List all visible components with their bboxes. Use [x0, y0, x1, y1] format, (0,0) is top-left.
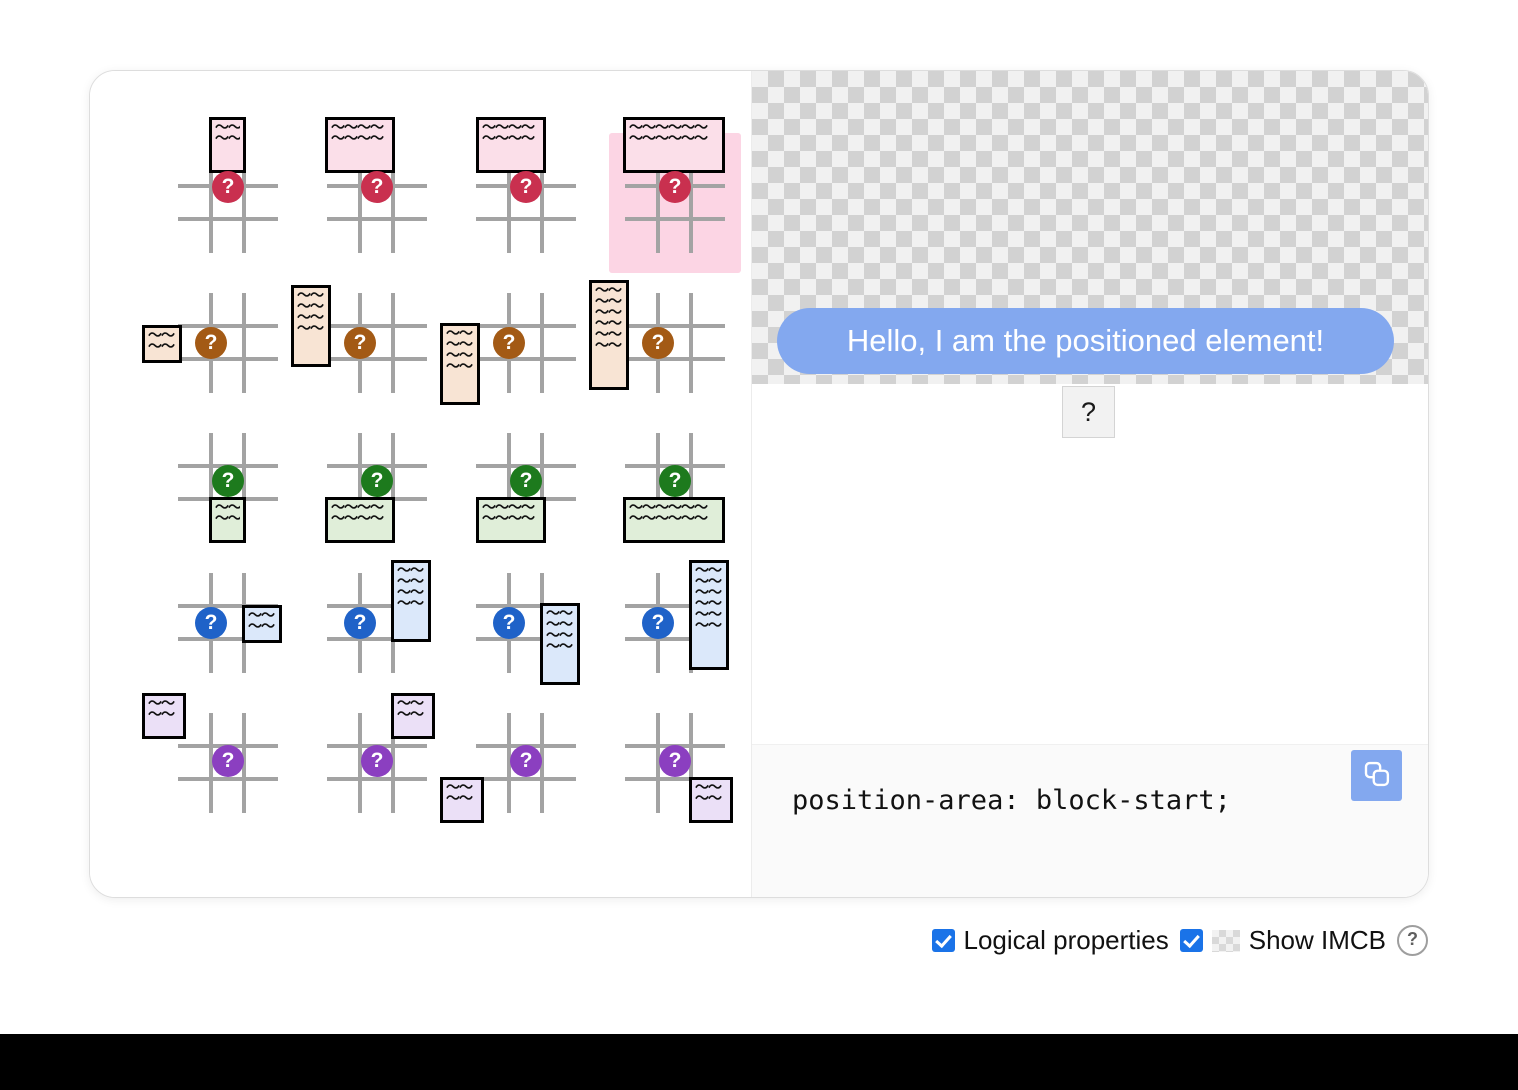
anchor-marker: ? [212, 171, 244, 203]
squiggle-line: 〜〜 [446, 363, 474, 372]
anchor-marker: ? [212, 465, 244, 497]
grid-guides: 〜〜〜〜? [178, 713, 278, 813]
squiggle-line: 〜〜 [695, 589, 723, 598]
anchor-marker: ? [659, 465, 691, 497]
grid-guides: 〜〜〜〜〜〜〜〜? [476, 433, 576, 533]
squiggle-line: 〜〜〜〜〜〜 [629, 135, 719, 144]
grid-line-h2 [327, 217, 427, 221]
grid-guides: 〜〜〜〜? [178, 293, 278, 393]
option-inline-end-span-block-start[interactable]: 〜〜〜〜? [162, 553, 294, 693]
option-block-start-span-inline-start[interactable]: 〜〜〜〜? [162, 133, 294, 273]
grid-guides: 〜〜〜〜? [476, 713, 576, 813]
logical-properties-control[interactable]: Logical properties [932, 925, 1169, 956]
option-end-end[interactable]: 〜〜〜〜? [609, 693, 741, 833]
grid-line-h2 [178, 357, 278, 361]
squiggle-line: 〜〜 [546, 632, 574, 641]
squiggle-line: 〜〜 [297, 292, 325, 301]
anchor-marker: ? [493, 607, 525, 639]
grid-guides: 〜〜〜〜〜〜〜〜〜〜〜〜? [625, 433, 725, 533]
grid-guides: 〜〜〜〜〜〜〜〜? [476, 573, 576, 673]
positioned-box: 〜〜〜〜 [391, 693, 435, 739]
grid-guides: 〜〜〜〜〜〜〜〜? [327, 153, 427, 253]
anchor-element: ? [1062, 386, 1115, 438]
grid-line-h2 [327, 777, 427, 781]
grid-line-v2 [391, 293, 395, 393]
squiggle-line: 〜〜 [397, 700, 429, 709]
grid-guides: 〜〜〜〜〜〜〜〜? [327, 293, 427, 393]
copy-button[interactable] [1351, 750, 1402, 801]
show-imcb-control[interactable]: Show IMCB [1180, 925, 1386, 956]
positioned-box: 〜〜〜〜〜〜〜〜 [325, 117, 395, 173]
positioned-box: 〜〜〜〜〜〜〜〜〜〜〜〜 [623, 497, 725, 543]
squiggle-line: 〜〜 [148, 700, 180, 709]
grid-line-h2 [625, 217, 725, 221]
squiggle-line: 〜〜 [695, 578, 723, 587]
positioned-box: 〜〜〜〜〜〜〜〜 [325, 497, 395, 543]
squiggle-line: 〜〜 [215, 515, 240, 524]
squiggle-line: 〜〜〜〜〜〜 [629, 504, 719, 513]
grid-guides: 〜〜〜〜〜〜〜〜〜〜〜〜? [625, 153, 725, 253]
anchor-marker: ? [642, 327, 674, 359]
squiggle-line: 〜〜 [446, 341, 474, 350]
option-inline-end[interactable]: 〜〜〜〜〜〜〜〜〜〜〜〜? [609, 553, 741, 693]
anchor-marker: ? [195, 607, 227, 639]
grid-guides: 〜〜〜〜? [178, 153, 278, 253]
squiggle-line: 〜〜 [297, 314, 325, 323]
option-block-start-center[interactable]: 〜〜〜〜〜〜〜〜? [460, 133, 592, 273]
grid-line-h2 [476, 357, 576, 361]
squiggle-line: 〜〜 [595, 298, 623, 307]
positioned-box: 〜〜〜〜〜〜〜〜〜〜〜〜 [623, 117, 725, 173]
squiggle-line: 〜〜 [446, 795, 478, 804]
logical-properties-label: Logical properties [964, 925, 1169, 956]
app-root: 〜〜〜〜?〜〜〜〜〜〜〜〜?〜〜〜〜〜〜〜〜?〜〜〜〜〜〜〜〜〜〜〜〜?〜〜〜〜… [0, 0, 1518, 1090]
show-imcb-label: Show IMCB [1249, 925, 1386, 956]
squiggle-line: 〜〜 [215, 124, 240, 133]
option-block-end-span-inline-start[interactable]: 〜〜〜〜? [162, 413, 294, 553]
grid-guides: 〜〜〜〜〜〜〜〜? [476, 293, 576, 393]
option-block-start[interactable]: 〜〜〜〜〜〜〜〜〜〜〜〜? [609, 133, 741, 273]
squiggle-line: 〜〜〜〜 [482, 515, 540, 524]
squiggle-line: 〜〜 [397, 578, 425, 587]
positioned-box: 〜〜〜〜〜〜〜〜 [476, 497, 546, 543]
positioned-box: 〜〜〜〜 [242, 605, 282, 643]
option-block-start-span-all[interactable]: 〜〜〜〜〜〜〜〜? [311, 133, 443, 273]
squiggle-line: 〜〜 [546, 643, 574, 652]
option-grid-panel: 〜〜〜〜?〜〜〜〜〜〜〜〜?〜〜〜〜〜〜〜〜?〜〜〜〜〜〜〜〜〜〜〜〜?〜〜〜〜… [90, 71, 751, 897]
anchor-marker: ? [212, 745, 244, 777]
squiggle-line: 〜〜 [297, 303, 325, 312]
visualizer-card: 〜〜〜〜?〜〜〜〜〜〜〜〜?〜〜〜〜〜〜〜〜?〜〜〜〜〜〜〜〜〜〜〜〜?〜〜〜〜… [89, 70, 1429, 898]
grid-line-h2 [476, 217, 576, 221]
grid-line-v2 [540, 293, 544, 393]
option-inline-end-center[interactable]: 〜〜〜〜〜〜〜〜? [460, 553, 592, 693]
squiggle-line: 〜〜〜〜 [331, 504, 389, 513]
option-inline-start-span-block-start[interactable]: 〜〜〜〜? [162, 273, 294, 413]
squiggle-line: 〜〜〜〜〜〜 [629, 124, 719, 133]
anchor-marker: ? [510, 171, 542, 203]
controls-bar: Logical properties Show IMCB ? [0, 925, 1428, 956]
positioned-box: 〜〜〜〜 [440, 777, 484, 823]
option-start-end[interactable]: 〜〜〜〜? [311, 693, 443, 833]
squiggle-line: 〜〜〜〜 [331, 124, 389, 133]
option-block-end-center[interactable]: 〜〜〜〜〜〜〜〜? [460, 413, 592, 553]
show-imcb-checkbox[interactable] [1180, 929, 1203, 952]
grid-line-h2 [178, 777, 278, 781]
positioned-element-tooltip: Hello, I am the positioned element! [777, 308, 1394, 374]
anchor-marker: ? [195, 327, 227, 359]
positioned-box: 〜〜〜〜 [142, 693, 186, 739]
anchor-marker: ? [510, 465, 542, 497]
anchor-marker: ? [344, 607, 376, 639]
help-circle-icon[interactable]: ? [1397, 925, 1428, 956]
anchor-marker: ? [493, 327, 525, 359]
positioned-box: 〜〜〜〜〜〜〜〜 [291, 285, 331, 367]
positioned-box: 〜〜〜〜〜〜〜〜 [440, 323, 480, 405]
positioned-box: 〜〜〜〜 [689, 777, 733, 823]
position-area-option-grid[interactable]: 〜〜〜〜?〜〜〜〜〜〜〜〜?〜〜〜〜〜〜〜〜?〜〜〜〜〜〜〜〜〜〜〜〜?〜〜〜〜… [162, 133, 741, 833]
squiggle-line: 〜〜 [148, 332, 176, 341]
squiggle-line: 〜〜 [695, 795, 727, 804]
anchor-marker: ? [510, 745, 542, 777]
positioned-box: 〜〜〜〜〜〜〜〜 [476, 117, 546, 173]
grid-line-v2 [242, 293, 246, 393]
squiggle-line: 〜〜 [397, 567, 425, 576]
anchor-marker: ? [659, 171, 691, 203]
positioned-box: 〜〜〜〜〜〜〜〜 [540, 603, 580, 685]
grid-line-h1 [178, 324, 278, 328]
positioned-box: 〜〜〜〜〜〜〜〜〜〜〜〜 [689, 560, 729, 670]
squiggle-line: 〜〜 [148, 711, 180, 720]
letterbox-bar [0, 1034, 1518, 1090]
option-start-start[interactable]: 〜〜〜〜? [162, 693, 294, 833]
option-block-end-span-all[interactable]: 〜〜〜〜〜〜〜〜? [311, 413, 443, 553]
grid-guides: 〜〜〜〜? [178, 573, 278, 673]
anchor-marker: ? [659, 745, 691, 777]
squiggle-line: 〜〜 [546, 610, 574, 619]
grid-guides: 〜〜〜〜? [327, 713, 427, 813]
squiggle-line: 〜〜 [446, 352, 474, 361]
squiggle-line: 〜〜 [595, 342, 623, 351]
grid-line-h2 [327, 357, 427, 361]
positioned-box: 〜〜〜〜〜〜〜〜 [391, 560, 431, 642]
grid-line-h1 [625, 324, 725, 328]
squiggle-line: 〜〜 [148, 343, 176, 352]
squiggle-line: 〜〜 [446, 784, 478, 793]
grid-line-h2 [476, 777, 576, 781]
anchor-marker: ? [344, 327, 376, 359]
preview-panel: Hello, I am the positioned element! ? po… [751, 71, 1428, 897]
grid-guides: 〜〜〜〜〜〜〜〜〜〜〜〜? [625, 573, 725, 673]
preview-canvas: Hello, I am the positioned element! [752, 71, 1428, 384]
anchor-marker: ? [642, 607, 674, 639]
option-inline-start-center[interactable]: 〜〜〜〜〜〜〜〜? [460, 273, 592, 413]
squiggle-line: 〜〜 [215, 135, 240, 144]
grid-line-h1 [327, 324, 427, 328]
squiggle-line: 〜〜 [595, 309, 623, 318]
squiggle-line: 〜〜 [595, 331, 623, 340]
squiggle-line: 〜〜〜〜 [482, 135, 540, 144]
squiggle-line: 〜〜〜〜〜〜 [629, 515, 719, 524]
squiggle-line: 〜〜 [695, 600, 723, 609]
grid-guides: 〜〜〜〜〜〜〜〜〜〜〜〜? [625, 293, 725, 393]
squiggle-line: 〜〜〜〜 [331, 135, 389, 144]
code-block: position-area: block-start; [752, 744, 1428, 897]
squiggle-line: 〜〜〜〜 [482, 504, 540, 513]
squiggle-line: 〜〜 [695, 622, 723, 631]
anchor-marker: ? [361, 465, 393, 497]
positioned-box: 〜〜〜〜 [209, 117, 246, 173]
grid-line-h1 [476, 324, 576, 328]
grid-line-h2 [625, 357, 725, 361]
option-inline-start-span-all[interactable]: 〜〜〜〜〜〜〜〜? [311, 273, 443, 413]
squiggle-line: 〜〜 [397, 600, 425, 609]
squiggle-line: 〜〜 [248, 612, 276, 621]
squiggle-line: 〜〜〜〜 [482, 124, 540, 133]
positioned-box: 〜〜〜〜〜〜〜〜〜〜〜〜 [589, 280, 629, 390]
squiggle-line: 〜〜 [595, 320, 623, 329]
squiggle-line: 〜〜 [695, 611, 723, 620]
squiggle-line: 〜〜〜〜 [331, 515, 389, 524]
checkerboard-swatch-icon [1212, 930, 1240, 952]
grid-guides: 〜〜〜〜? [625, 713, 725, 813]
squiggle-line: 〜〜 [446, 330, 474, 339]
squiggle-line: 〜〜 [397, 711, 429, 720]
grid-line-v2 [689, 293, 693, 393]
css-declaration: position-area: block-start; [792, 785, 1231, 816]
grid-guides: 〜〜〜〜〜〜〜〜? [476, 153, 576, 253]
squiggle-line: 〜〜 [695, 784, 727, 793]
grid-guides: 〜〜〜〜〜〜〜〜? [327, 433, 427, 533]
squiggle-line: 〜〜 [595, 287, 623, 296]
option-inline-end-span-all[interactable]: 〜〜〜〜〜〜〜〜? [311, 553, 443, 693]
squiggle-line: 〜〜 [297, 325, 325, 334]
copy-icon [1362, 759, 1392, 792]
squiggle-line: 〜〜 [215, 504, 240, 513]
option-block-end[interactable]: 〜〜〜〜〜〜〜〜〜〜〜〜? [609, 413, 741, 553]
positioned-box: 〜〜〜〜 [142, 325, 182, 363]
logical-properties-checkbox[interactable] [932, 929, 955, 952]
squiggle-line: 〜〜 [397, 589, 425, 598]
option-inline-start[interactable]: 〜〜〜〜〜〜〜〜〜〜〜〜? [609, 273, 741, 413]
grid-guides: 〜〜〜〜〜〜〜〜? [327, 573, 427, 673]
anchor-marker: ? [361, 745, 393, 777]
squiggle-line: 〜〜 [695, 567, 723, 576]
grid-guides: 〜〜〜〜? [178, 433, 278, 533]
positioned-box: 〜〜〜〜 [209, 497, 246, 543]
squiggle-line: 〜〜 [546, 621, 574, 630]
option-end-start[interactable]: 〜〜〜〜? [460, 693, 592, 833]
squiggle-line: 〜〜 [248, 623, 276, 632]
grid-line-h2 [178, 217, 278, 221]
anchor-marker: ? [361, 171, 393, 203]
